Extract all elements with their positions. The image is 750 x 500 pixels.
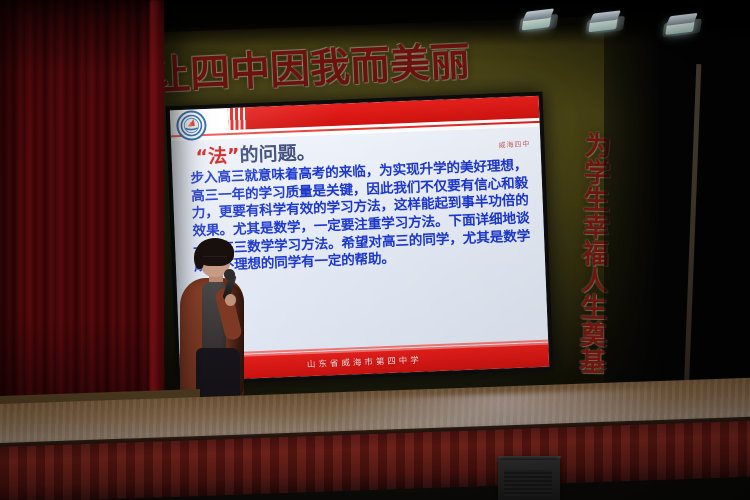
presenter-glasses bbox=[203, 256, 227, 263]
title-rest: 的问题。 bbox=[239, 142, 316, 167]
stage-light-icon bbox=[662, 12, 704, 37]
title-quote-close: ” bbox=[227, 145, 240, 167]
stage-light-icon bbox=[518, 8, 560, 33]
microphone-head-icon bbox=[224, 269, 235, 280]
stage-light-icon bbox=[585, 10, 627, 35]
stage-curtain-edge bbox=[150, 0, 166, 452]
presenter-hand bbox=[225, 294, 236, 306]
title-quote-open: “ bbox=[195, 146, 208, 168]
speaker-cabinet-grill bbox=[504, 470, 552, 496]
slide-footer-text: 山东省威海市第四中学 bbox=[307, 354, 422, 371]
slide-watermark: 威海四中 bbox=[498, 139, 531, 151]
stage-curtain-left bbox=[0, 0, 164, 452]
banner-right-text: 为学生幸福人生奠基 bbox=[557, 117, 610, 386]
stage-right-dark-area bbox=[604, 0, 750, 420]
title-key-char: 法 bbox=[208, 145, 228, 168]
slide-header-stripes bbox=[228, 107, 247, 130]
school-crest-logo bbox=[176, 110, 207, 141]
auditorium-photo: 让四中因我而美丽 为学生幸福人生奠基 以质量求生存以特色谋发展 bbox=[0, 0, 750, 500]
